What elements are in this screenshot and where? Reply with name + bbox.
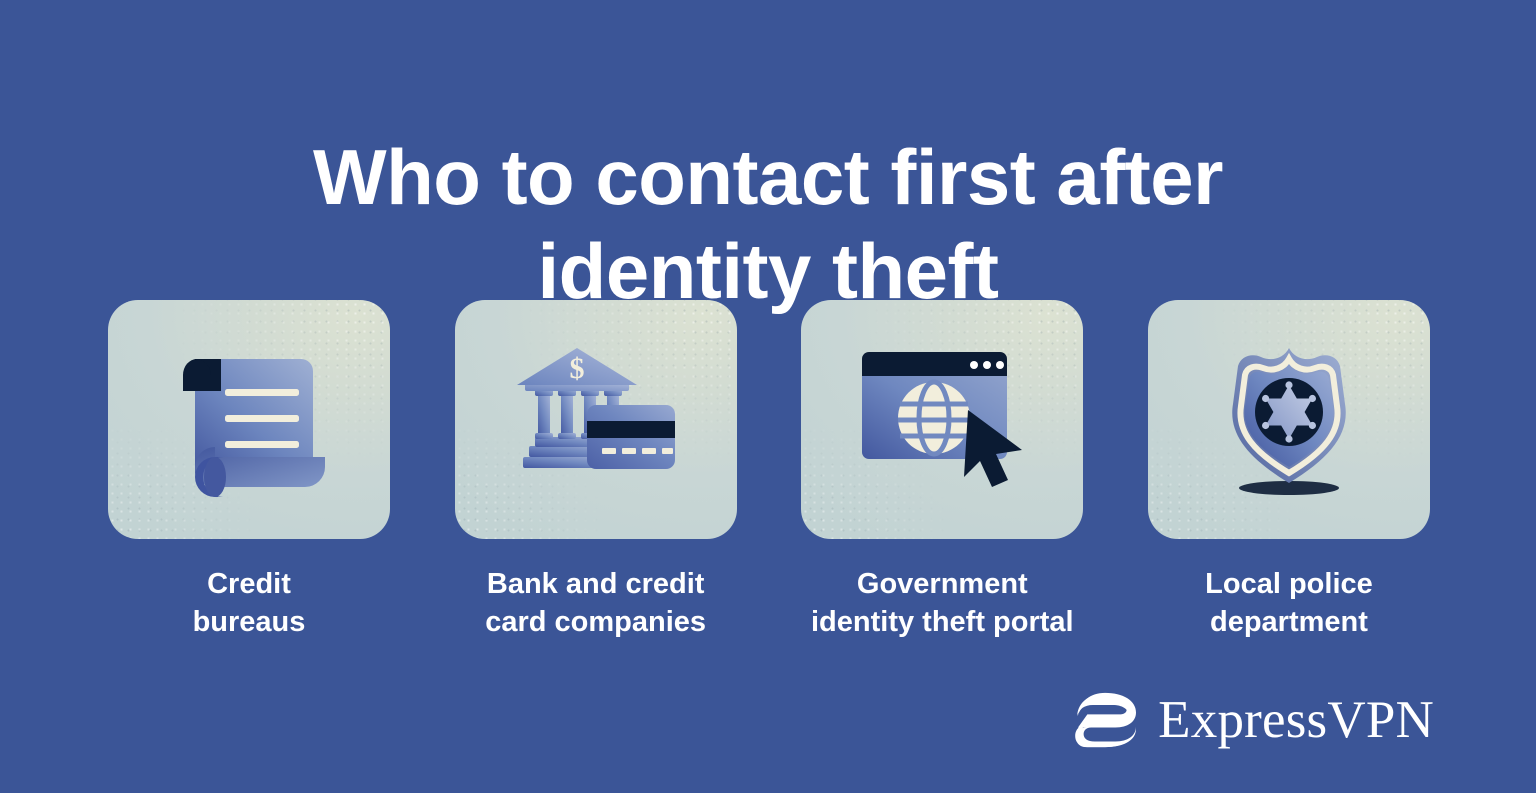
expressvpn-logo: ExpressVPN <box>1074 689 1434 751</box>
bank-and-credit-card-icon: $ <box>511 345 681 495</box>
card-tile <box>108 300 390 539</box>
card-label: Credit bureaus <box>84 565 414 641</box>
infographic-poster: Who to contact first after identity thef… <box>0 0 1536 793</box>
card-tile <box>1148 300 1430 539</box>
card-label: Government identity theft portal <box>777 565 1107 641</box>
contact-card-credit-bureaus[interactable]: Credit bureaus <box>108 300 390 641</box>
card-tile: $ <box>455 300 737 539</box>
contact-card-local-police[interactable]: Local police department <box>1148 300 1430 641</box>
contact-card-government-portal[interactable]: Government identity theft portal <box>801 300 1083 641</box>
card-label: Local police department <box>1124 565 1454 641</box>
contact-cards-row: Credit bureaus <box>108 300 1430 660</box>
police-badge-icon <box>1204 345 1374 495</box>
brand-wordmark: ExpressVPN <box>1158 694 1434 747</box>
expressvpn-e-logo-icon <box>1074 691 1140 749</box>
scroll-document-icon <box>164 345 334 495</box>
card-tile <box>801 300 1083 539</box>
contact-card-bank-credit[interactable]: $ Bank and credit card companies <box>455 300 737 641</box>
svg-text:$: $ <box>569 352 584 385</box>
browser-globe-cursor-icon <box>857 345 1027 495</box>
card-label: Bank and credit card companies <box>431 565 761 641</box>
page-title: Who to contact first after identity thef… <box>0 130 1536 318</box>
